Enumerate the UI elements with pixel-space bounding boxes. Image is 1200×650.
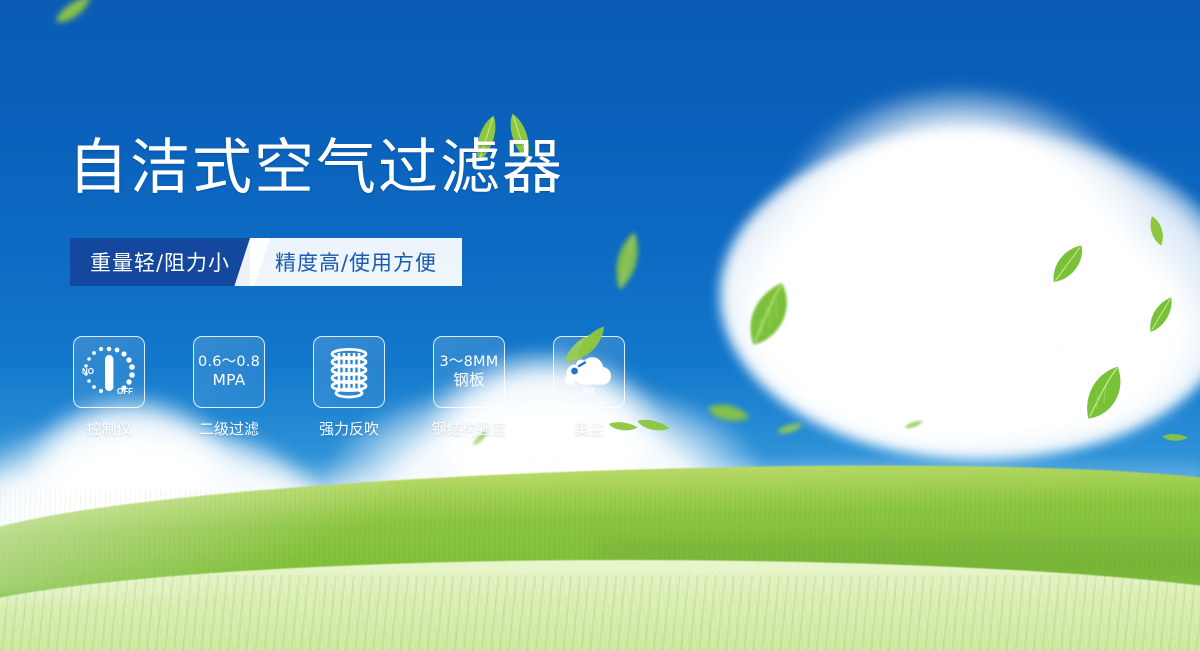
feature-label: 集尘	[574, 418, 604, 439]
steel-line2: 钢板	[440, 371, 499, 390]
feature-label: 二级过滤	[199, 418, 259, 439]
grass-highlight	[0, 480, 490, 600]
page-title: 自洁式空气过滤器	[68, 138, 564, 198]
gauge-label-off: OFF	[117, 387, 133, 396]
product-banner: 自洁式空气过滤器 重量轻/阻力小 精度高/使用方便	[0, 0, 1200, 650]
pressure-text-icon: 0.6〜0.8 MPA	[198, 354, 260, 391]
leaf-icon	[605, 227, 649, 294]
feature-icon-box	[313, 336, 385, 408]
feature-icon-box: 3〜8MM 钢板	[433, 336, 505, 408]
leaf-icon	[1161, 428, 1189, 447]
pressure-line1: 0.6〜0.8	[198, 354, 260, 372]
feature-icon-box: 0.6〜0.8 MPA	[193, 336, 265, 408]
subtitle-left: 重量轻/阻力小	[70, 238, 250, 286]
feature-label: 钢结构强度	[431, 418, 506, 439]
air-caption: Air	[582, 385, 596, 397]
feature-list: NO OFF 控制仪 0.6〜0.8 MPA 二级过滤	[70, 336, 628, 439]
filter-cartridge-icon	[313, 336, 385, 408]
feature-label: 控制仪	[86, 418, 131, 439]
gauge-icon: NO OFF	[73, 336, 145, 408]
subtitle-bar: 重量轻/阻力小 精度高/使用方便	[70, 238, 462, 286]
feature-item-pressure[interactable]: 0.6〜0.8 MPA 二级过滤	[190, 336, 268, 439]
leaf-icon	[775, 418, 806, 441]
leaf-icon	[48, 0, 99, 33]
feature-item-steel[interactable]: 3〜8MM 钢板 钢结构强度	[430, 336, 508, 439]
feature-item-blowback[interactable]: 强力反吹	[310, 336, 388, 439]
feature-item-control[interactable]: NO OFF 控制仪	[70, 336, 148, 439]
pressure-line2: MPA	[198, 371, 260, 390]
gauge-label-no: NO	[82, 367, 94, 376]
feature-icon-box: NO OFF	[73, 336, 145, 408]
feature-label: 强力反吹	[319, 418, 379, 439]
steel-plate-text-icon: 3〜8MM 钢板	[440, 354, 499, 391]
steel-line1: 3〜8MM	[440, 354, 499, 372]
subtitle-right: 精度高/使用方便	[250, 238, 462, 286]
